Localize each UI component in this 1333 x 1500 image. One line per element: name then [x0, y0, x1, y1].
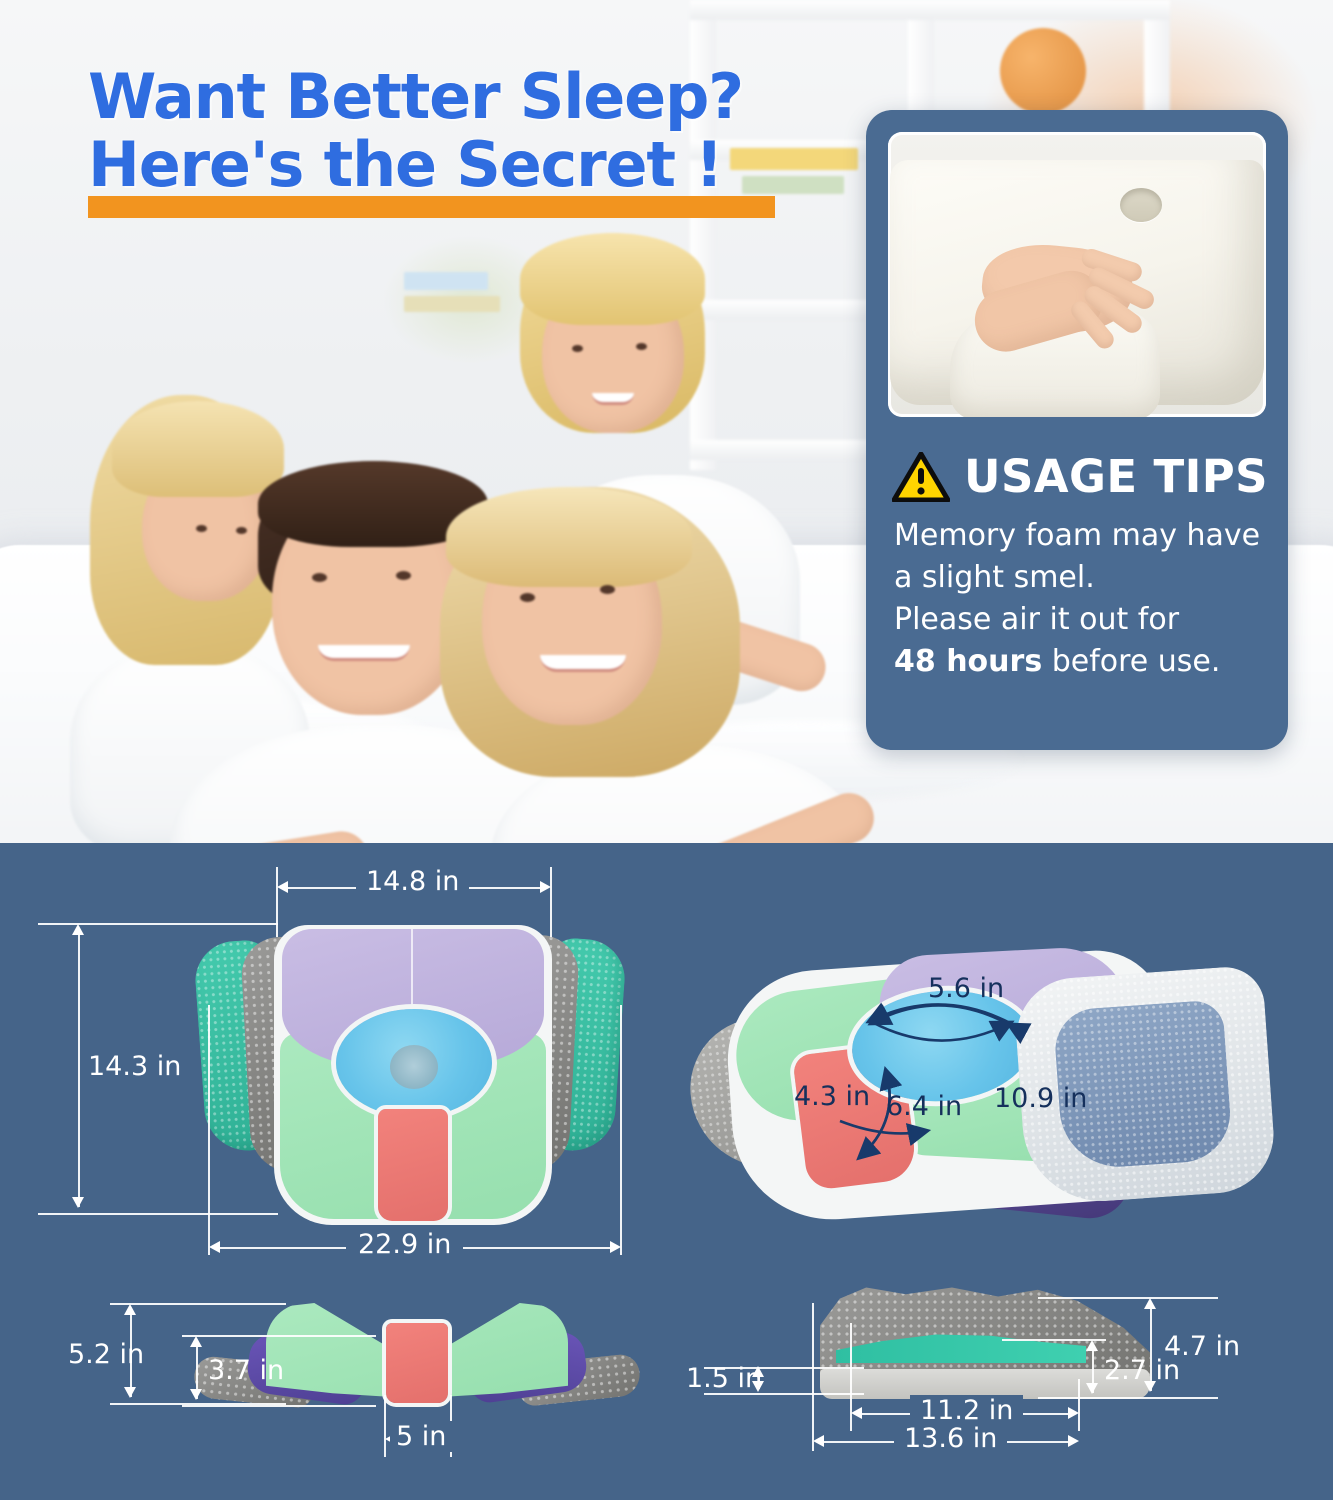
pillow-front-view: 14.8 in 14.3 in 22.9 in: [150, 913, 670, 1243]
arrow-up: [1086, 1340, 1098, 1351]
usage-tips-line-1: Memory foam may have: [894, 515, 1274, 557]
hero-section: Want Better Sleep? Here's the Secret !: [0, 0, 1333, 843]
arrow-up: [124, 1304, 136, 1315]
pillow-front-profile-view: 5.2 in 3.7 in 5 in: [200, 1299, 630, 1429]
dim-label-inner-depth: 11.2 in: [910, 1395, 1023, 1426]
dim-guide: [182, 1405, 376, 1407]
arrow-right: [610, 1241, 621, 1253]
dim-guide: [1078, 1379, 1080, 1431]
arrow-down: [1086, 1383, 1098, 1394]
arrow-up: [1144, 1298, 1156, 1309]
usage-tips-body: Memory foam may have a slight smel. Plea…: [894, 515, 1274, 683]
arrow-down: [124, 1387, 136, 1398]
dim-label-left-height: 14.3 in: [88, 1051, 181, 1082]
arrow-right: [540, 881, 551, 893]
arrow-up: [72, 924, 84, 935]
dim-label-neck-width: 6.4 in: [886, 1091, 962, 1122]
dim-label-top-width: 14.8 in: [356, 866, 469, 897]
dim-guide: [620, 1005, 622, 1255]
dim-guide: [208, 1005, 210, 1255]
usage-tips-line-2: a slight smel.: [894, 557, 1274, 599]
dim-label-center-oval: 5.6 in: [928, 973, 1004, 1004]
dim-guide: [38, 1213, 278, 1215]
dim-label-outer-depth: 13.6 in: [894, 1423, 1007, 1454]
dim-label-outer-height: 5.2 in: [68, 1339, 144, 1370]
arrow-left: [851, 1407, 862, 1419]
foam-block: [890, 160, 1264, 405]
arrow-down: [190, 1389, 202, 1400]
dim-label-center-width: 5 in: [390, 1421, 452, 1452]
dim-label-shoulder-span: 10.9 in: [994, 1083, 1087, 1114]
dim-label-low-height: 2.7 in: [1104, 1355, 1180, 1386]
dim-label-neck-height: 4.3 in: [794, 1081, 870, 1112]
headline-line-1: Want Better Sleep?: [88, 66, 743, 128]
shelf-book: [742, 176, 844, 194]
foam-ventilation-hole: [1120, 188, 1162, 222]
usage-tips-line-4: 48 hours before use.: [894, 641, 1274, 683]
pillow-side-profile-view: 1.5 in 4.7 in 2.7 in 11.2 in: [820, 1283, 1220, 1433]
infographic-page: Want Better Sleep? Here's the Secret !: [0, 0, 1333, 1500]
oval-dimple: [390, 1045, 438, 1089]
dim-line-left: [78, 929, 80, 1207]
pillow-3d-view: 5.6 in 4.3 in 6.4 in 10.9 in: [690, 943, 1300, 1243]
dim-guide: [276, 867, 278, 937]
arrow-left: [277, 881, 288, 893]
dim-guide: [1038, 1397, 1218, 1399]
usage-tips-title: USAGE TIPS: [964, 450, 1268, 503]
memory-foam-photo: [888, 132, 1266, 417]
dim-label-inner-height: 3.7 in: [208, 1355, 284, 1386]
shelf-decor-orb: [1000, 28, 1086, 114]
usage-tips-card: USAGE TIPS Memory foam may have a slight…: [866, 110, 1288, 750]
arrow-down: [72, 1197, 84, 1208]
usage-tips-line-3: Please air it out for: [894, 599, 1274, 641]
specifications-panel: 14.8 in 14.3 in 22.9 in: [0, 843, 1333, 1500]
dim-guide: [182, 1335, 376, 1337]
dim-label-base-thickness: 1.5 in: [686, 1363, 762, 1394]
headline-block: Want Better Sleep? Here's the Secret !: [88, 66, 743, 196]
arrow-up: [190, 1336, 202, 1347]
dim-guide: [1038, 1297, 1218, 1299]
usage-tips-header: USAGE TIPS: [892, 450, 1268, 503]
usage-tips-line-4-rest: before use.: [1042, 644, 1220, 679]
warning-triangle-icon: [892, 452, 950, 502]
shelf-book: [730, 148, 858, 170]
headline-line-2: Here's the Secret !: [88, 134, 743, 196]
arrow-left: [813, 1435, 824, 1447]
arrow-right: [1068, 1407, 1079, 1419]
dim-guide: [384, 1395, 386, 1457]
arrow-right: [1068, 1435, 1079, 1447]
dim-guide: [110, 1303, 286, 1305]
family-photo-group: [0, 225, 880, 843]
zone-coral: [378, 1109, 448, 1221]
dim-guide: [812, 1303, 814, 1451]
dim-label-bottom-width: 22.9 in: [346, 1229, 463, 1260]
arrow-left: [209, 1241, 220, 1253]
usage-tips-hours-bold: 48 hours: [894, 644, 1042, 679]
profile-coral-center: [386, 1323, 448, 1403]
dim-guide: [550, 867, 552, 937]
